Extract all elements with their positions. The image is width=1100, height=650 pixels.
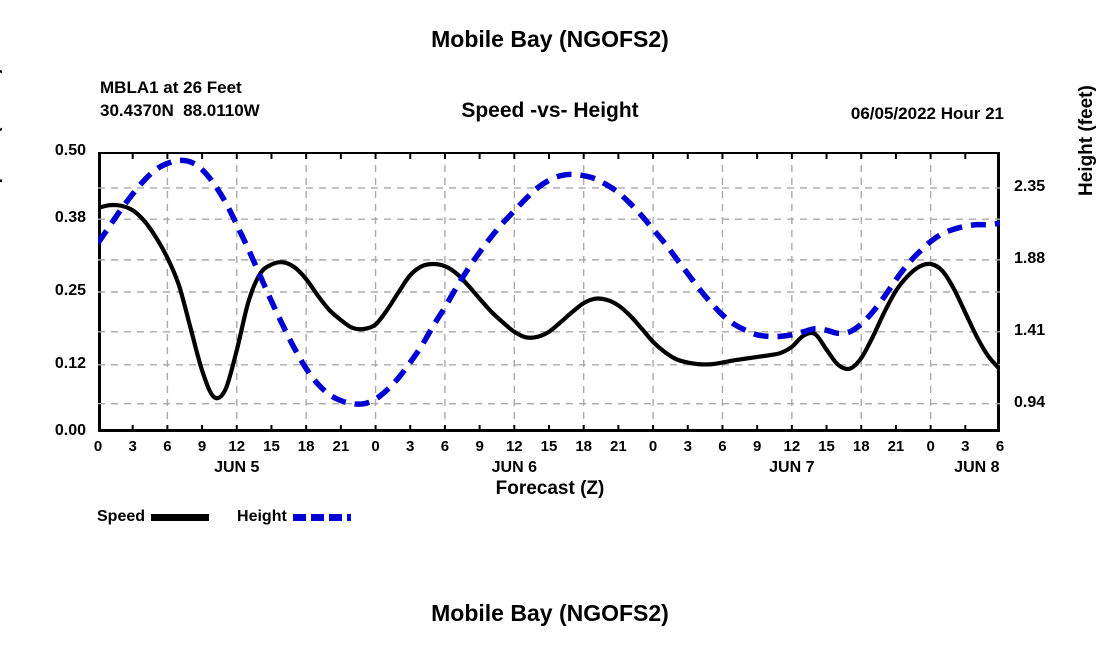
legend-entry-speed: Speed bbox=[97, 508, 209, 526]
x-axis-day-label: JUN 6 bbox=[454, 459, 574, 477]
station-name-depth: MBLA1 at 26 Feet bbox=[100, 76, 260, 99]
y-tick-label-left: 0.00 bbox=[26, 422, 86, 440]
page-title-bottom: Mobile Bay (NGOFS2) bbox=[0, 600, 1100, 627]
y-tick-label-right: 0.94 bbox=[1014, 394, 1074, 412]
legend-swatch-height bbox=[293, 514, 351, 521]
x-axis-day-label: JUN 5 bbox=[177, 459, 297, 477]
y-tick-label-left: 0.12 bbox=[26, 355, 86, 373]
y-tick-label-right: 1.88 bbox=[1014, 250, 1074, 268]
y-tick-label-left: 0.50 bbox=[26, 142, 86, 160]
y-tick-label-left: 0.25 bbox=[26, 282, 86, 300]
y-tick-label-left: 0.38 bbox=[26, 209, 86, 227]
legend-entry-height: Height bbox=[237, 508, 351, 526]
plot-curves bbox=[98, 152, 1000, 432]
legend-label-height: Height bbox=[237, 508, 287, 526]
chart-page: Mobile Bay (NGOFS2) MBLA1 at 26 Feet 30.… bbox=[0, 0, 1100, 650]
page-title-top: Mobile Bay (NGOFS2) bbox=[0, 26, 1100, 53]
y-tick-label-right: 1.41 bbox=[1014, 322, 1074, 340]
y-axis-label-right: Height (feet) bbox=[1076, 85, 1098, 196]
y-axis-label-left: Speed (Knots) bbox=[0, 67, 4, 196]
x-axis-label: Forecast (Z) bbox=[0, 478, 1100, 500]
x-axis-day-label: JUN 8 bbox=[917, 459, 1037, 477]
chart-legend: Speed Height bbox=[97, 508, 351, 526]
plot-area bbox=[98, 152, 1000, 432]
legend-swatch-speed bbox=[151, 514, 209, 521]
x-axis-day-label: JUN 7 bbox=[732, 459, 852, 477]
model-run-stamp: 06/05/2022 Hour 21 bbox=[851, 104, 1004, 124]
legend-label-speed: Speed bbox=[97, 508, 145, 526]
y-tick-label-right: 2.35 bbox=[1014, 178, 1074, 196]
x-tick-label: 6 bbox=[980, 438, 1020, 455]
